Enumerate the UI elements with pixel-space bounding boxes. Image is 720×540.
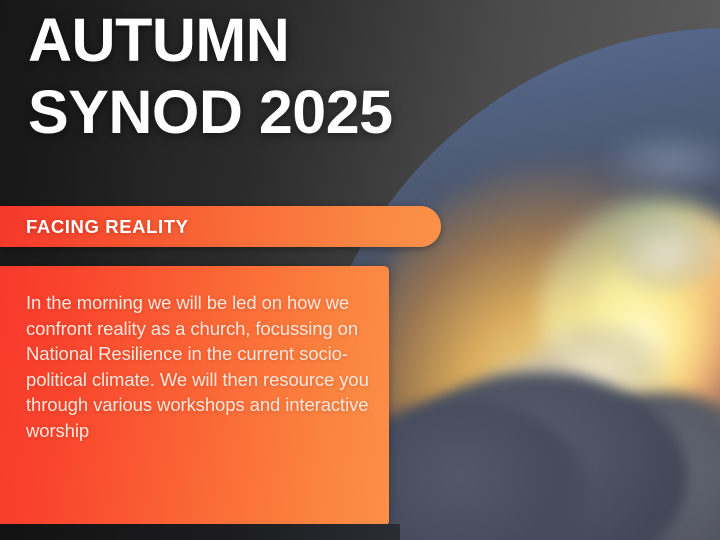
body-paragraph: In the morning we will be led on how we …	[26, 290, 369, 443]
presentation-slide: AUTUMN SYNOD 2025 FACING REALITY In the …	[0, 0, 720, 540]
subtitle-banner: FACING REALITY	[0, 206, 441, 247]
title-line-2: SYNOD 2025	[28, 76, 588, 148]
bottom-dark-strip	[0, 524, 400, 540]
page-title: AUTUMN SYNOD 2025	[28, 4, 588, 148]
title-line-1: AUTUMN	[28, 4, 588, 76]
body-text-panel: In the morning we will be led on how we …	[0, 266, 389, 526]
subtitle-banner-label: FACING REALITY	[26, 216, 189, 238]
